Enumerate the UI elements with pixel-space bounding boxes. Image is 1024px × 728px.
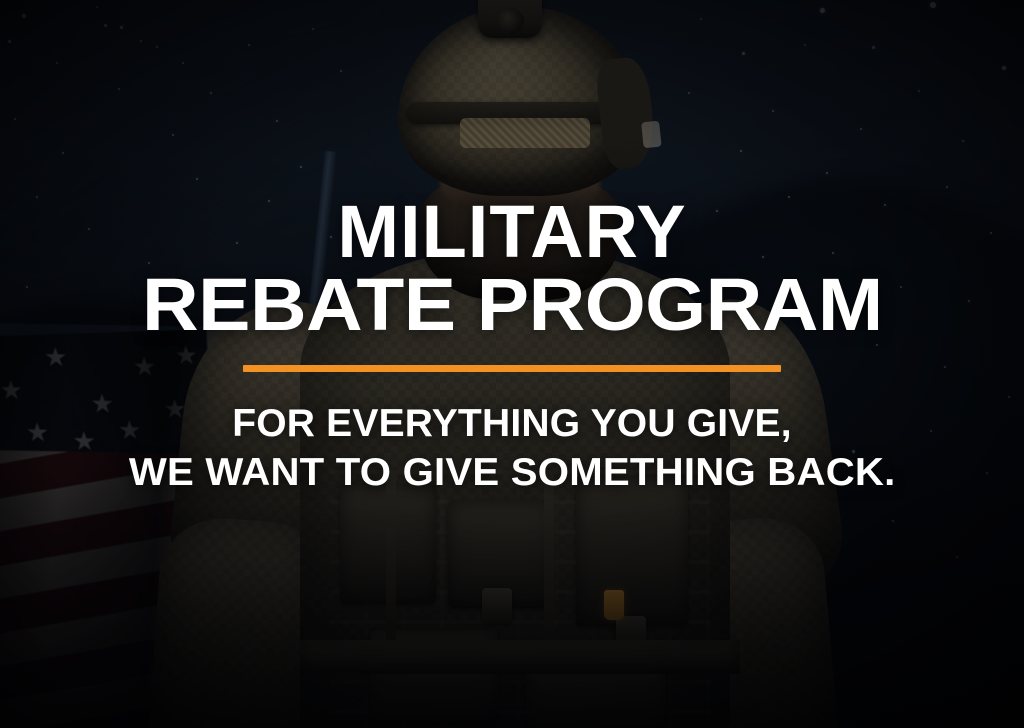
page-title: MILITARY REBATE PROGRAM: [163, 196, 862, 341]
headline-line-2: REBATE PROGRAM: [142, 269, 883, 342]
military-rebate-banner: ★★★★★★★★★: [0, 0, 1024, 728]
subheadline-line-2: WE WANT TO GIVE SOMETHING BACK.: [129, 449, 896, 498]
page-subtitle: FOR EVERYTHING YOU GIVE, WE WANT TO GIVE…: [140, 400, 884, 498]
banner-content: MILITARY REBATE PROGRAM FOR EVERYTHING Y…: [0, 0, 1024, 728]
subheadline-line-1: FOR EVERYTHING YOU GIVE,: [140, 400, 884, 449]
headline-line-1: MILITARY: [163, 196, 862, 269]
accent-divider: [243, 365, 781, 372]
